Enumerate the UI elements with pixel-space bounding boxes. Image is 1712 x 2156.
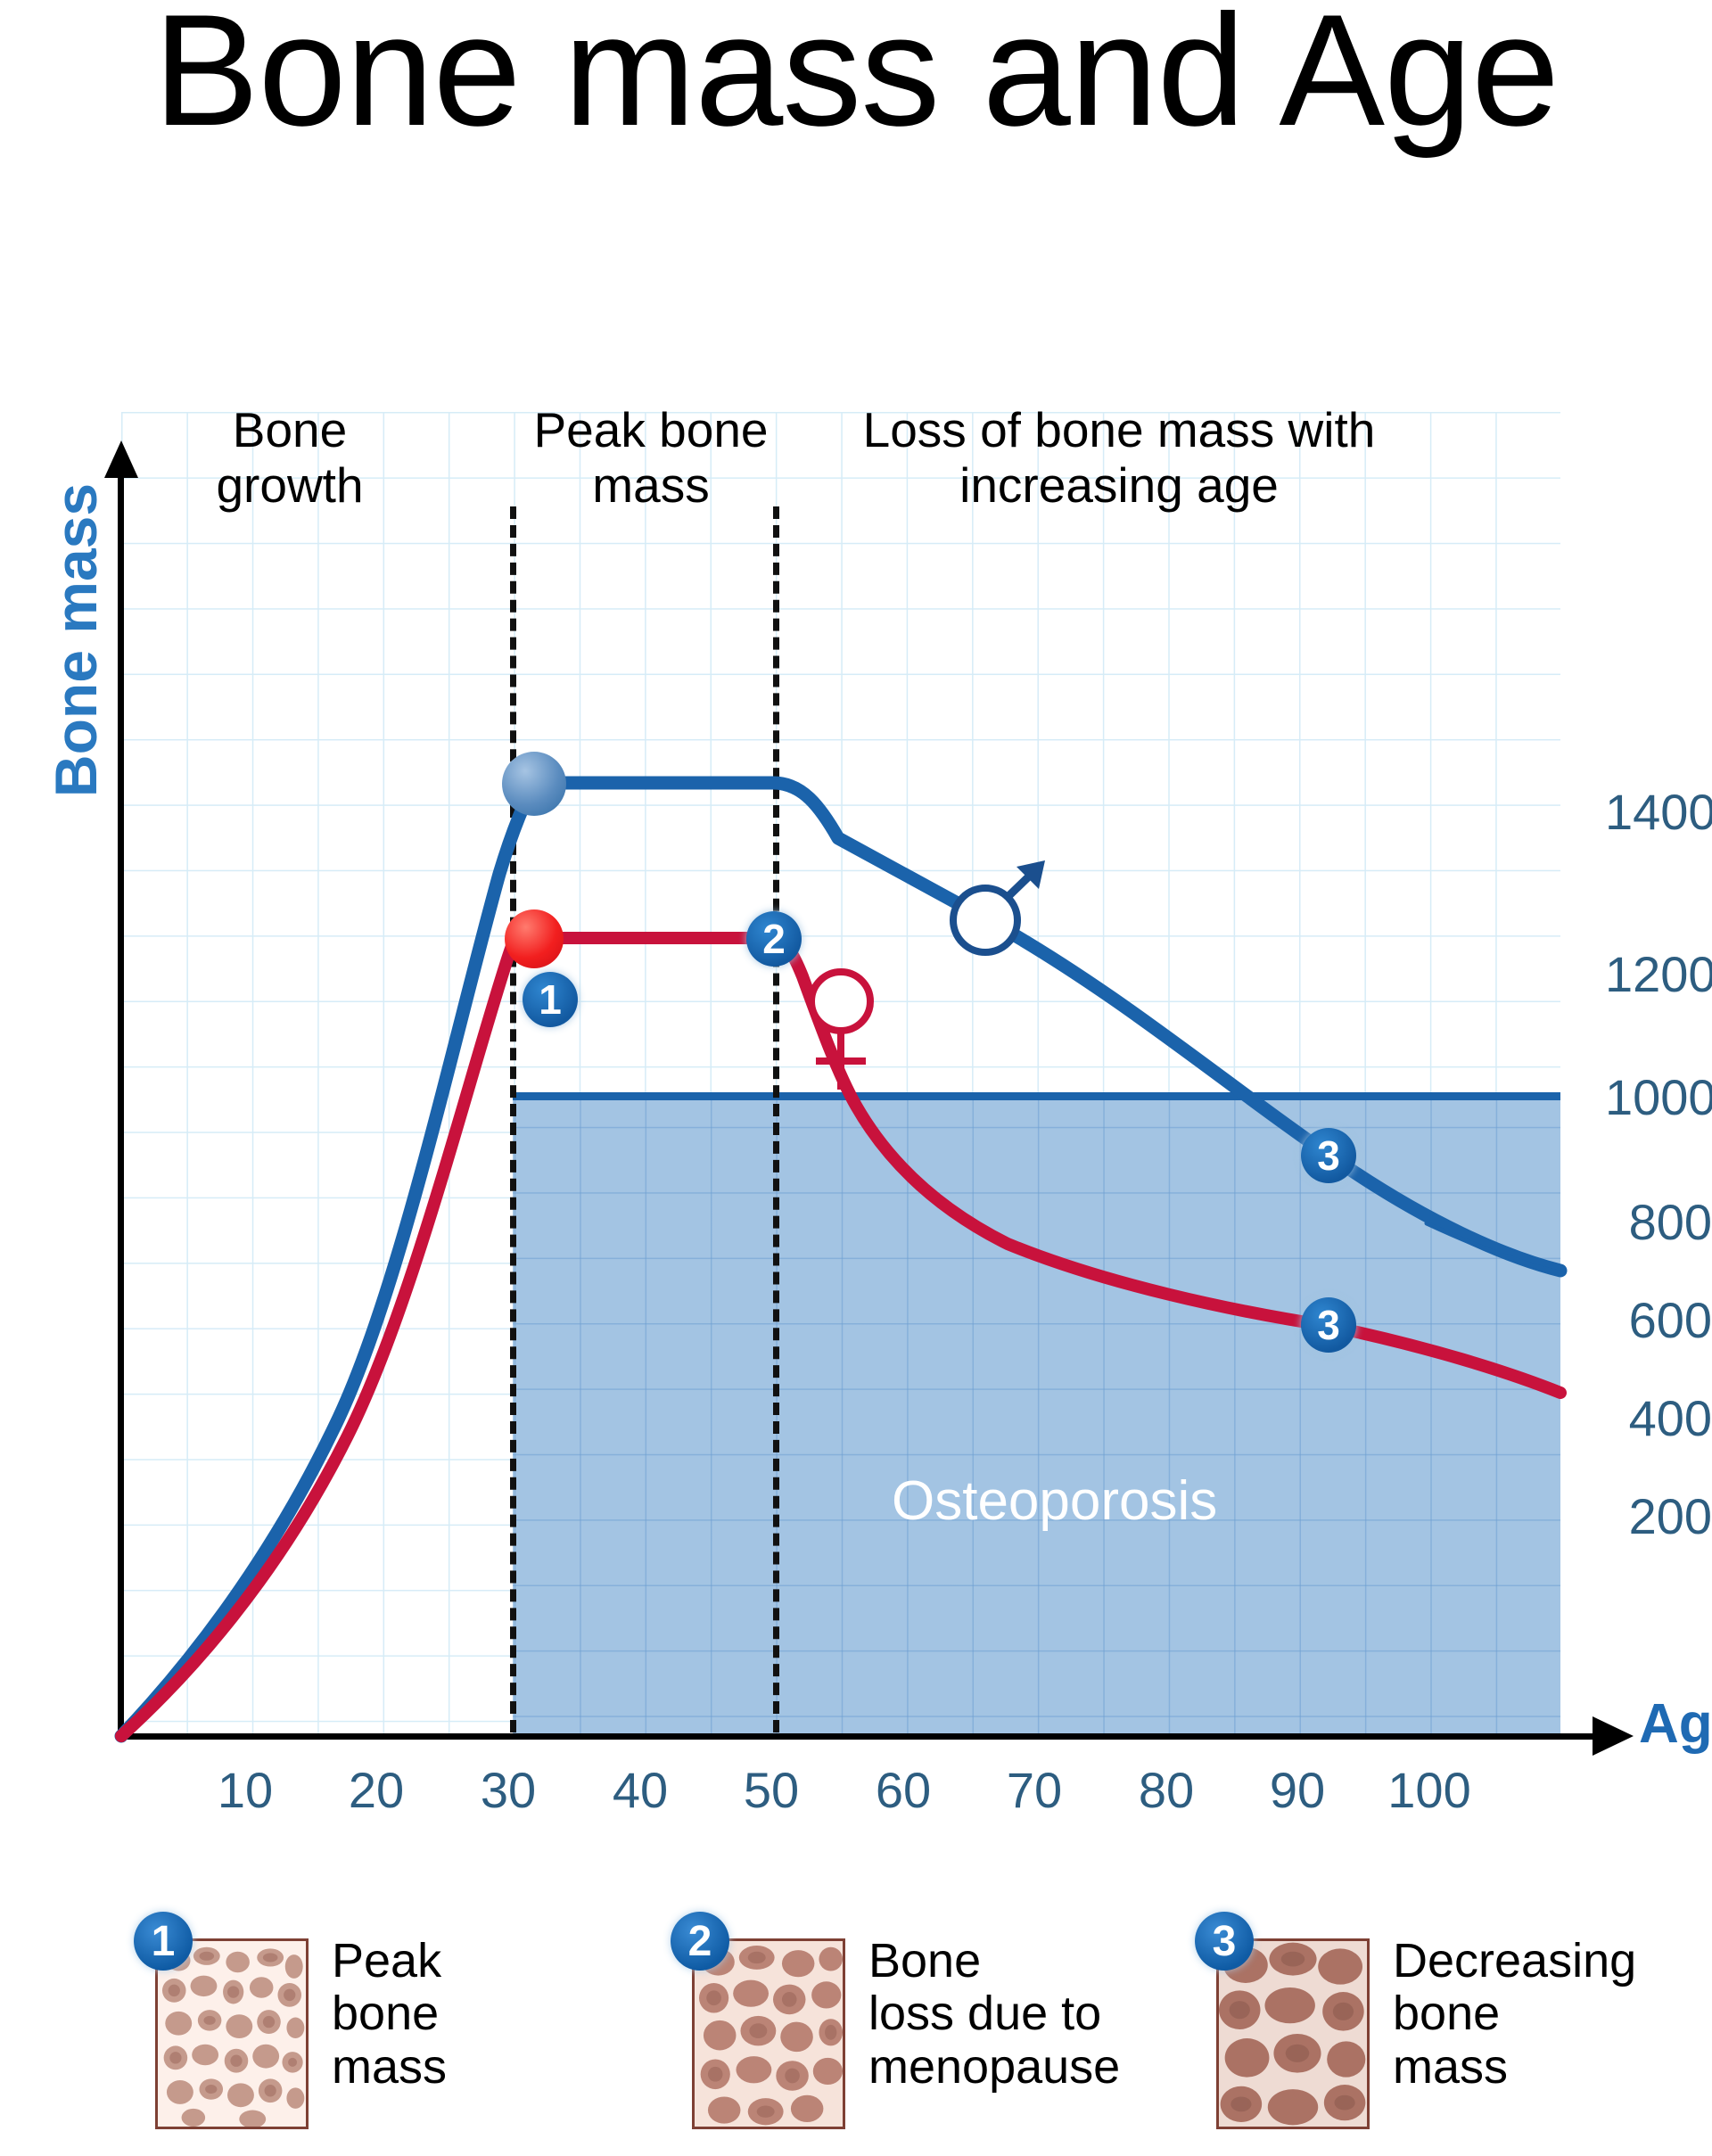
x-tick-label: 100 (1367, 1761, 1492, 1819)
legend-label-3: Decreasing bone mass (1393, 1935, 1712, 2094)
x-tick-label: 40 (578, 1761, 703, 1819)
y-tick-label: 1000 (1605, 1068, 1712, 1126)
y-axis-line (118, 457, 124, 1740)
peak-bone-mass-marker-male (502, 752, 566, 816)
legend-label-1: Peak bone mass (332, 1935, 635, 2094)
x-tick-label: 20 (314, 1761, 439, 1819)
legend: 1 (0, 1908, 1712, 2156)
phase-divider-age-30 (510, 506, 516, 1732)
bone-swatch-dense (155, 1938, 309, 2129)
section-header-bone-growth: Bone growth (156, 403, 424, 513)
legend-label-2: Bone loss due to menopause (868, 1935, 1243, 2094)
chart-plot-area: Osteoporosis Bone growth Peak bone mass … (0, 0, 1712, 1855)
bone-swatch-porous (1216, 1938, 1370, 2129)
badge-1-marker[interactable]: 1 (523, 972, 578, 1027)
y-tick-label: 800 (1605, 1193, 1712, 1251)
legend-badge-3: 3 (1195, 1912, 1254, 1971)
legend-badge-1: 1 (134, 1912, 193, 1971)
y-tick-label: 200 (1605, 1487, 1712, 1545)
badge-2-marker[interactable]: 2 (746, 911, 802, 967)
osteoporosis-region-gridlines (513, 1100, 1560, 1736)
x-tick-label: 80 (1104, 1761, 1229, 1819)
x-tick-label: 30 (446, 1761, 571, 1819)
y-axis-title: Bone mass (42, 462, 110, 819)
legend-badge-2: 2 (671, 1912, 729, 1971)
y-tick-label: 600 (1605, 1291, 1712, 1349)
bone-swatch-medium (692, 1938, 845, 2129)
badge-3-marker-male[interactable]: 3 (1301, 1128, 1356, 1183)
x-tick-label: 90 (1235, 1761, 1360, 1819)
osteoporosis-label: Osteoporosis (892, 1469, 1217, 1533)
y-tick-label: 1200 (1605, 945, 1712, 1003)
y-tick-label: 1400 (1605, 783, 1712, 841)
x-axis-title: Age (1639, 1692, 1712, 1756)
y-tick-label: 400 (1605, 1389, 1712, 1447)
x-tick-label: 70 (972, 1761, 1097, 1819)
osteoporosis-region (513, 1092, 1560, 1736)
x-tick-label: 10 (183, 1761, 308, 1819)
x-tick-label: 50 (709, 1761, 834, 1819)
section-header-peak-bone-mass: Peak bone mass (517, 403, 785, 513)
x-tick-label: 60 (841, 1761, 966, 1819)
section-header-loss-of-bone-mass: Loss of bone mass with increasing age (852, 403, 1387, 513)
phase-divider-age-50 (773, 506, 779, 1732)
badge-3-marker-female[interactable]: 3 (1301, 1297, 1356, 1353)
x-axis-arrow-icon (1593, 1716, 1634, 1756)
peak-bone-mass-marker-female (505, 909, 564, 968)
x-axis-line (118, 1733, 1601, 1740)
